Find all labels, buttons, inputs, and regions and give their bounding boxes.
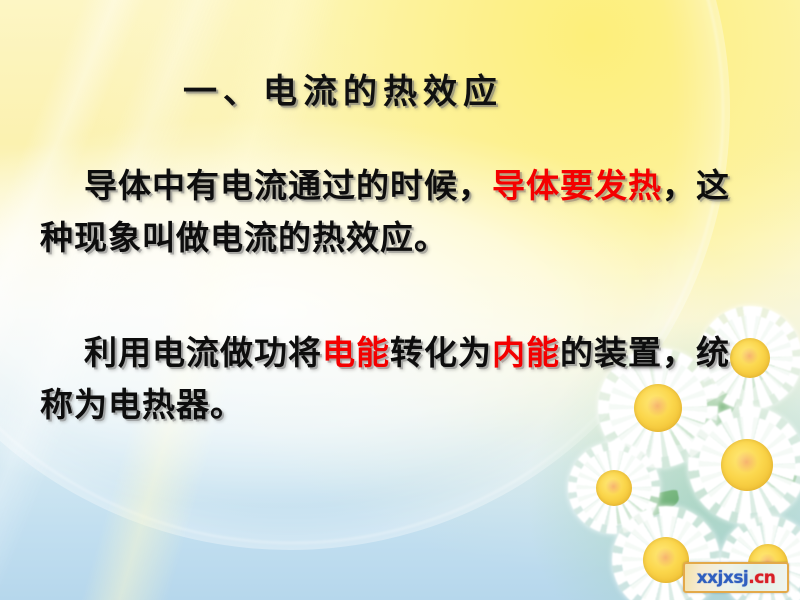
paragraph-thermal-effect: 导体中有电流通过的时候，导体要发热，这种现象叫做电流的热效应。 — [40, 160, 760, 264]
para2-text-black-c: 的 — [560, 333, 594, 372]
para1-text-black-a: 导体中有电流通过的时候， — [84, 166, 492, 205]
para1-highlight-a: 导体要 — [492, 166, 594, 205]
watermark-text-secondary: .cn — [748, 568, 775, 588]
para2-text-black-a: 利用电流做功将 — [84, 333, 322, 372]
paragraph-electric-heater: 利用电流做功将电能转化为内能的装置，统称为电热器。 — [40, 327, 760, 431]
watermark-text: xxjxsj.cn — [697, 570, 776, 587]
presentation-slide: 一、电流的热效应 导体中有电流通过的时候，导体要发热，这种现象叫做电流的热效应。… — [0, 0, 800, 600]
site-watermark: xxjxsj.cn — [683, 562, 789, 593]
slide-content: 一、电流的热效应 导体中有电流通过的时候，导体要发热，这种现象叫做电流的热效应。… — [0, 0, 800, 600]
para2-text-black-b: 转化为 — [390, 333, 492, 372]
watermark-text-primary: xxjxsj — [697, 568, 749, 588]
para2-highlight-electric-energy: 电能 — [322, 333, 390, 372]
para1-highlight-b: 发热 — [594, 166, 662, 205]
para2-highlight-internal-energy: 内能 — [492, 333, 560, 372]
slide-title: 一、电流的热效应 — [183, 72, 503, 112]
